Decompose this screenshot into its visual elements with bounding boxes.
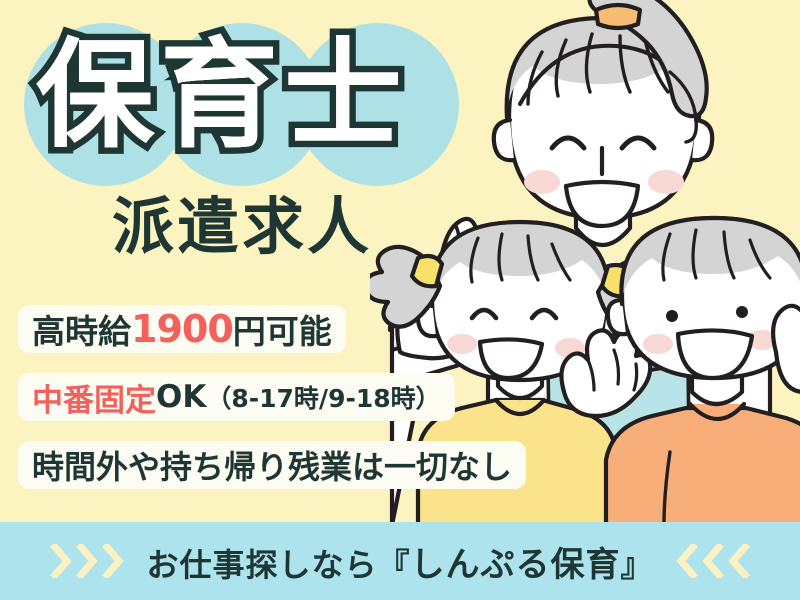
chevron-right-icon: [76, 544, 98, 578]
feature-shift-highlight: 中番固定: [32, 375, 156, 420]
feature-shift-label: OK: [156, 379, 206, 415]
feature-wage-prefix: 高時給: [32, 305, 131, 353]
feature-mid-shift: 中番固定OK（8-17時/9-18時）: [18, 373, 455, 421]
page-title: 保育士: [36, 36, 408, 154]
feature-wage-suffix: 円可能: [233, 305, 332, 353]
page-subtitle: 派遣求人: [112, 196, 372, 258]
chevron-right-icon: [50, 544, 72, 578]
chevron-right-icon-group: [50, 544, 124, 578]
bottom-ribbon: お仕事探しなら『しんぷる保育』: [0, 522, 800, 600]
ribbon-quote-open: 『: [377, 546, 410, 584]
feature-overtime-text: 時間外や持ち帰り残業は一切なし: [32, 442, 512, 488]
job-advert-banner: 保育士 保育士 派遣求人 高時給1900円可能 中番固定OK（8-17時/9-1…: [0, 0, 800, 600]
chevron-left-icon: [728, 544, 750, 578]
ribbon-brand: しんぷる保育: [411, 545, 621, 585]
feature-hourly-wage: 高時給1900円可能: [18, 305, 346, 353]
ribbon-quote-close: 』: [621, 546, 654, 584]
chevron-left-icon: [676, 544, 698, 578]
chevron-left-icon: [702, 544, 724, 578]
chevron-left-icon-group: [676, 544, 750, 578]
feature-shift-detail: （8-17時/9-18時）: [206, 379, 440, 415]
feature-no-overtime: 時間外や持ち帰り残業は一切なし: [18, 441, 526, 489]
ribbon-lead: お仕事探しなら: [146, 546, 377, 584]
chevron-right-icon: [102, 544, 124, 578]
feature-wage-amount: 1900: [131, 307, 233, 351]
ribbon-tagline: お仕事探しなら『しんぷる保育』: [146, 537, 653, 586]
